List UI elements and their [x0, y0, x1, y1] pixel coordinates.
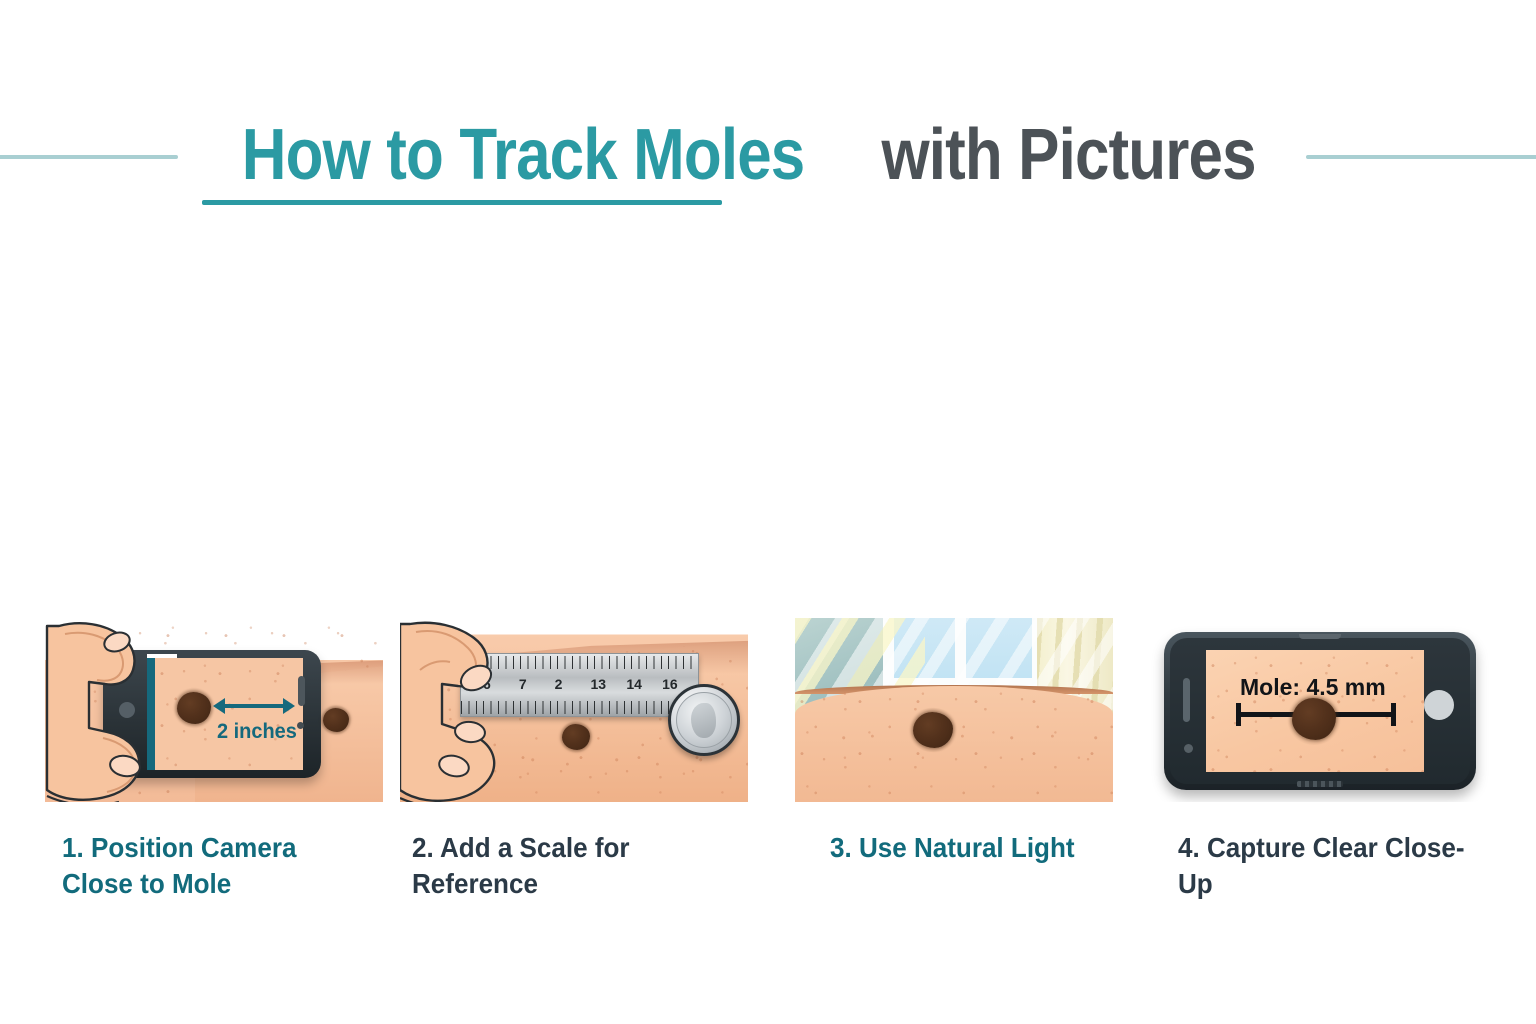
- phone-charging-port-icon: [1297, 781, 1343, 787]
- ruler-number: 2: [555, 676, 591, 692]
- hand-illustration: [45, 620, 205, 802]
- caliper-cap-left: [1236, 703, 1241, 726]
- measure-arrow-head-right: [283, 698, 295, 714]
- step-1-caption: 1. Position Camera Close to Mole: [62, 830, 369, 902]
- step-1-illustration: 2 inches: [45, 620, 383, 802]
- smartphone-device: Mole: 4.5 mm: [1164, 632, 1476, 790]
- distance-label: 2 inches: [217, 720, 297, 744]
- mole-on-screen: [1292, 698, 1336, 740]
- page-title: How to Track Moles with Pictures: [196, 119, 1285, 191]
- ruler-number: 14: [626, 676, 662, 692]
- mole-on-skin: [562, 724, 590, 750]
- page-title-secondary: with Pictures: [881, 119, 1255, 191]
- phone-camera-icon: [1184, 744, 1193, 753]
- reference-coin: [668, 684, 740, 756]
- step-4-caption-line-1: 4. Capture Clear Close-Up: [1178, 830, 1485, 902]
- coin-rim: [676, 692, 732, 748]
- step-1-caption-line-1: 1. Position Camera: [62, 830, 369, 866]
- caliper-cap-right: [1391, 703, 1396, 726]
- step-3-scene: [795, 618, 1113, 802]
- step-2-caption-line-1: 2. Add a Scale for Reference: [412, 830, 728, 902]
- phone-volume-button: [1183, 678, 1190, 722]
- measure-arrow-line: [223, 704, 285, 708]
- phone-earpiece-icon: [1299, 634, 1341, 639]
- measure-arrow-head-left: [213, 698, 225, 714]
- header-rule-left: [0, 155, 178, 159]
- page-header: How to Track Moles with Pictures: [0, 105, 1536, 205]
- ruler-number: 13: [590, 676, 626, 692]
- skin-foreground: [795, 686, 1113, 802]
- step-1-caption-line-2: Close to Mole: [62, 866, 369, 902]
- title-underline: [202, 200, 722, 205]
- step-1-scene: 2 inches: [45, 620, 383, 802]
- step-2-illustration: 6 7 2 13 14 16: [400, 620, 748, 802]
- header-rule-right: [1306, 155, 1536, 159]
- page-title-primary: How to Track Moles: [242, 119, 805, 191]
- step-4-caption: 4. Capture Clear Close-Up: [1178, 830, 1485, 902]
- step-2-scene: 6 7 2 13 14 16: [400, 620, 748, 802]
- step-3-caption: 3. Use Natural Light: [830, 830, 1100, 866]
- step-3-illustration: [795, 618, 1113, 802]
- step-4-scene: Mole: 4.5 mm: [1150, 620, 1496, 802]
- mole-on-skin: [913, 712, 953, 748]
- hand-illustration: [400, 620, 560, 802]
- step-3-caption-line-1: 3. Use Natural Light: [830, 830, 1100, 866]
- step-4-illustration: Mole: 4.5 mm: [1150, 620, 1496, 802]
- mole-on-skin: [323, 708, 349, 732]
- phone-screen: Mole: 4.5 mm: [1206, 650, 1424, 772]
- step-2-caption: 2. Add a Scale for Reference: [412, 830, 728, 902]
- phone-earpiece-icon: [298, 676, 305, 706]
- skin-freckles: [795, 686, 1113, 802]
- phone-home-button-icon: [1424, 690, 1454, 720]
- phone-camera-icon: [297, 722, 304, 729]
- coin-portrait-icon: [691, 703, 716, 739]
